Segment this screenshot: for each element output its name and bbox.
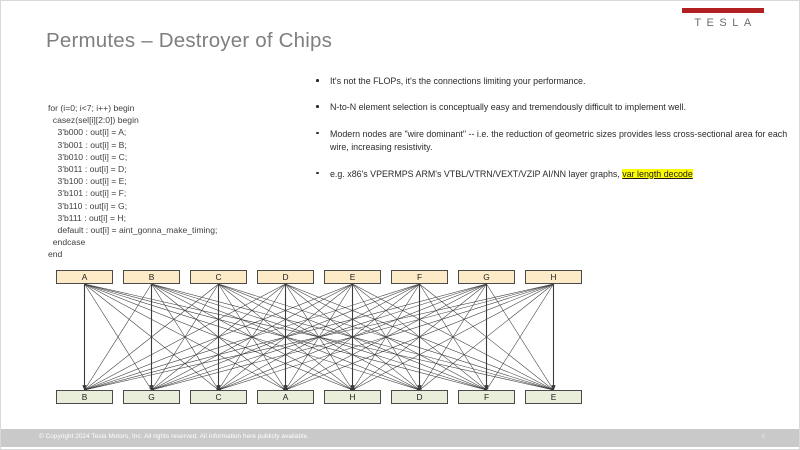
network-bottom-node: C xyxy=(190,390,247,404)
network-bottom-node: B xyxy=(56,390,113,404)
network-bottom-node: F xyxy=(458,390,515,404)
network-edges xyxy=(85,284,554,390)
network-top-node: C xyxy=(190,270,247,284)
network-top-node: B xyxy=(123,270,180,284)
network-bottom-node: D xyxy=(391,390,448,404)
network-top-node: D xyxy=(257,270,314,284)
network-bottom-node: A xyxy=(257,390,314,404)
network-top-node: H xyxy=(525,270,582,284)
slide-canvas: TESLA Permutes – Destroyer of Chips for … xyxy=(0,0,800,450)
network-top-node: G xyxy=(458,270,515,284)
network-top-node: F xyxy=(391,270,448,284)
permutation-network-diagram xyxy=(1,1,800,450)
footer-copyright: © Copyright 2024 Tesla Motors, Inc. All … xyxy=(39,433,309,440)
network-top-node: E xyxy=(324,270,381,284)
network-bottom-node: G xyxy=(123,390,180,404)
network-top-node: A xyxy=(56,270,113,284)
footer-bar: © Copyright 2024 Tesla Motors, Inc. All … xyxy=(1,429,800,447)
network-bottom-node: H xyxy=(324,390,381,404)
page-number: 8 xyxy=(761,433,765,440)
network-bottom-node: E xyxy=(525,390,582,404)
